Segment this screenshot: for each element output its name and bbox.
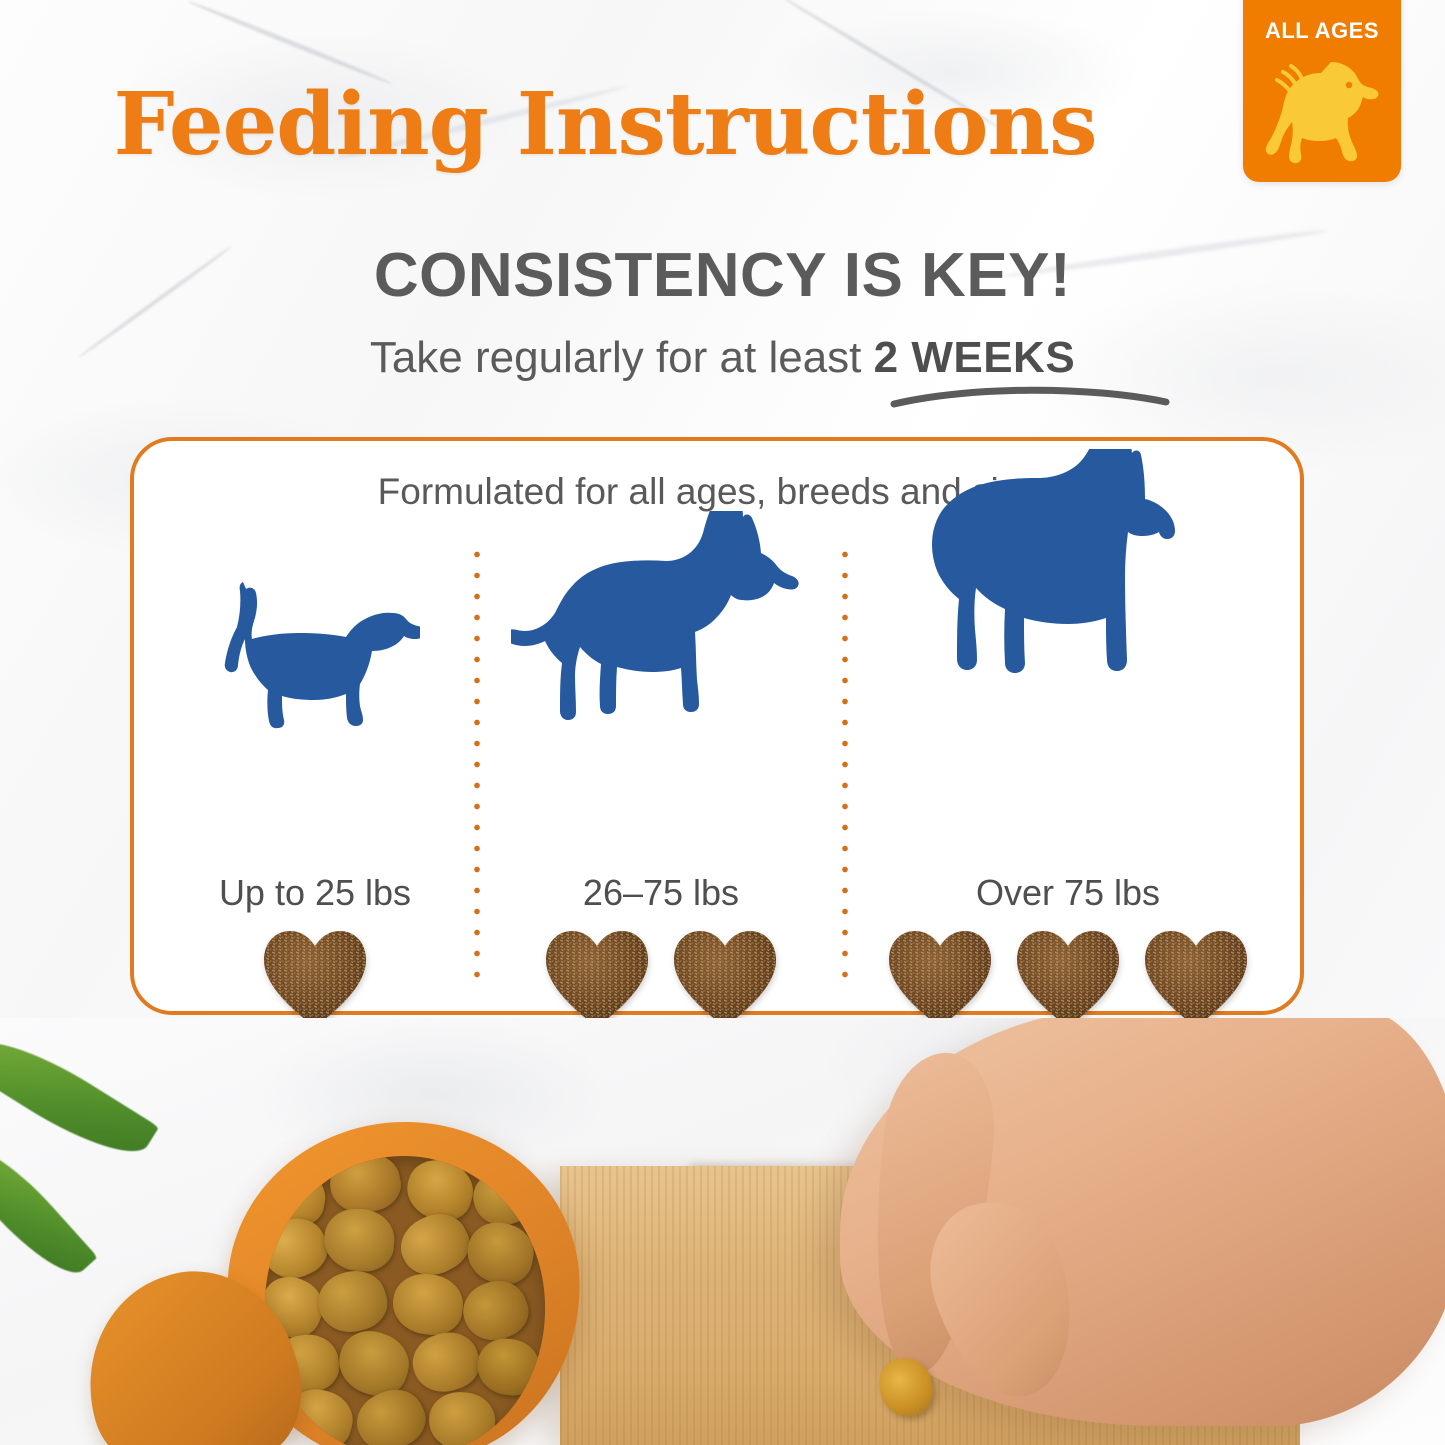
- size-column-medium: 26–75 lbs: [480, 527, 842, 997]
- treat-row-small: [156, 927, 474, 1031]
- kibble-heart-icon: [1013, 927, 1123, 1031]
- kibble-heart-icon: [1141, 927, 1251, 1031]
- medium-dog-wrap: [480, 511, 842, 739]
- medium-dog-silhouette-icon: [511, 511, 811, 739]
- tagline-emphasis: 2 WEEKS: [874, 333, 1076, 382]
- small-dog-wrap: [156, 571, 474, 739]
- large-dog-silhouette-icon: [918, 449, 1218, 739]
- badge-label: ALL AGES: [1243, 18, 1401, 44]
- sitting-dog-icon: [1261, 46, 1385, 166]
- size-label-medium: 26–75 lbs: [480, 872, 842, 914]
- kibble-heart-icon: [542, 927, 652, 1031]
- underline-swoosh-icon: [890, 378, 1170, 412]
- small-dog-silhouette-icon: [210, 571, 420, 739]
- page-title: Feeding Instructions: [0, 82, 1210, 168]
- size-column-large: Over 75 lbs: [848, 527, 1288, 997]
- subtitle: CONSISTENCY IS KEY!: [0, 240, 1445, 311]
- tagline: Take regularly for at least 2 WEEKS: [0, 333, 1445, 383]
- kibble-heart-icon: [670, 927, 780, 1031]
- size-column-small: Up to 25 lbs: [156, 527, 474, 997]
- size-label-small: Up to 25 lbs: [156, 872, 474, 914]
- large-dog-wrap: [848, 449, 1288, 739]
- kibble-heart-icon: [885, 927, 995, 1031]
- tagline-prefix: Take regularly for at least: [370, 333, 874, 382]
- treat-row-large: [848, 927, 1288, 1031]
- size-label-large: Over 75 lbs: [848, 872, 1288, 914]
- product-photo: [0, 1018, 1445, 1445]
- all-ages-badge: ALL AGES: [1243, 0, 1401, 182]
- treat-row-medium: [480, 927, 842, 1031]
- feeding-chart-card: Formulated for all ages, breeds and size…: [130, 437, 1304, 1015]
- kibble-heart-icon: [260, 927, 370, 1031]
